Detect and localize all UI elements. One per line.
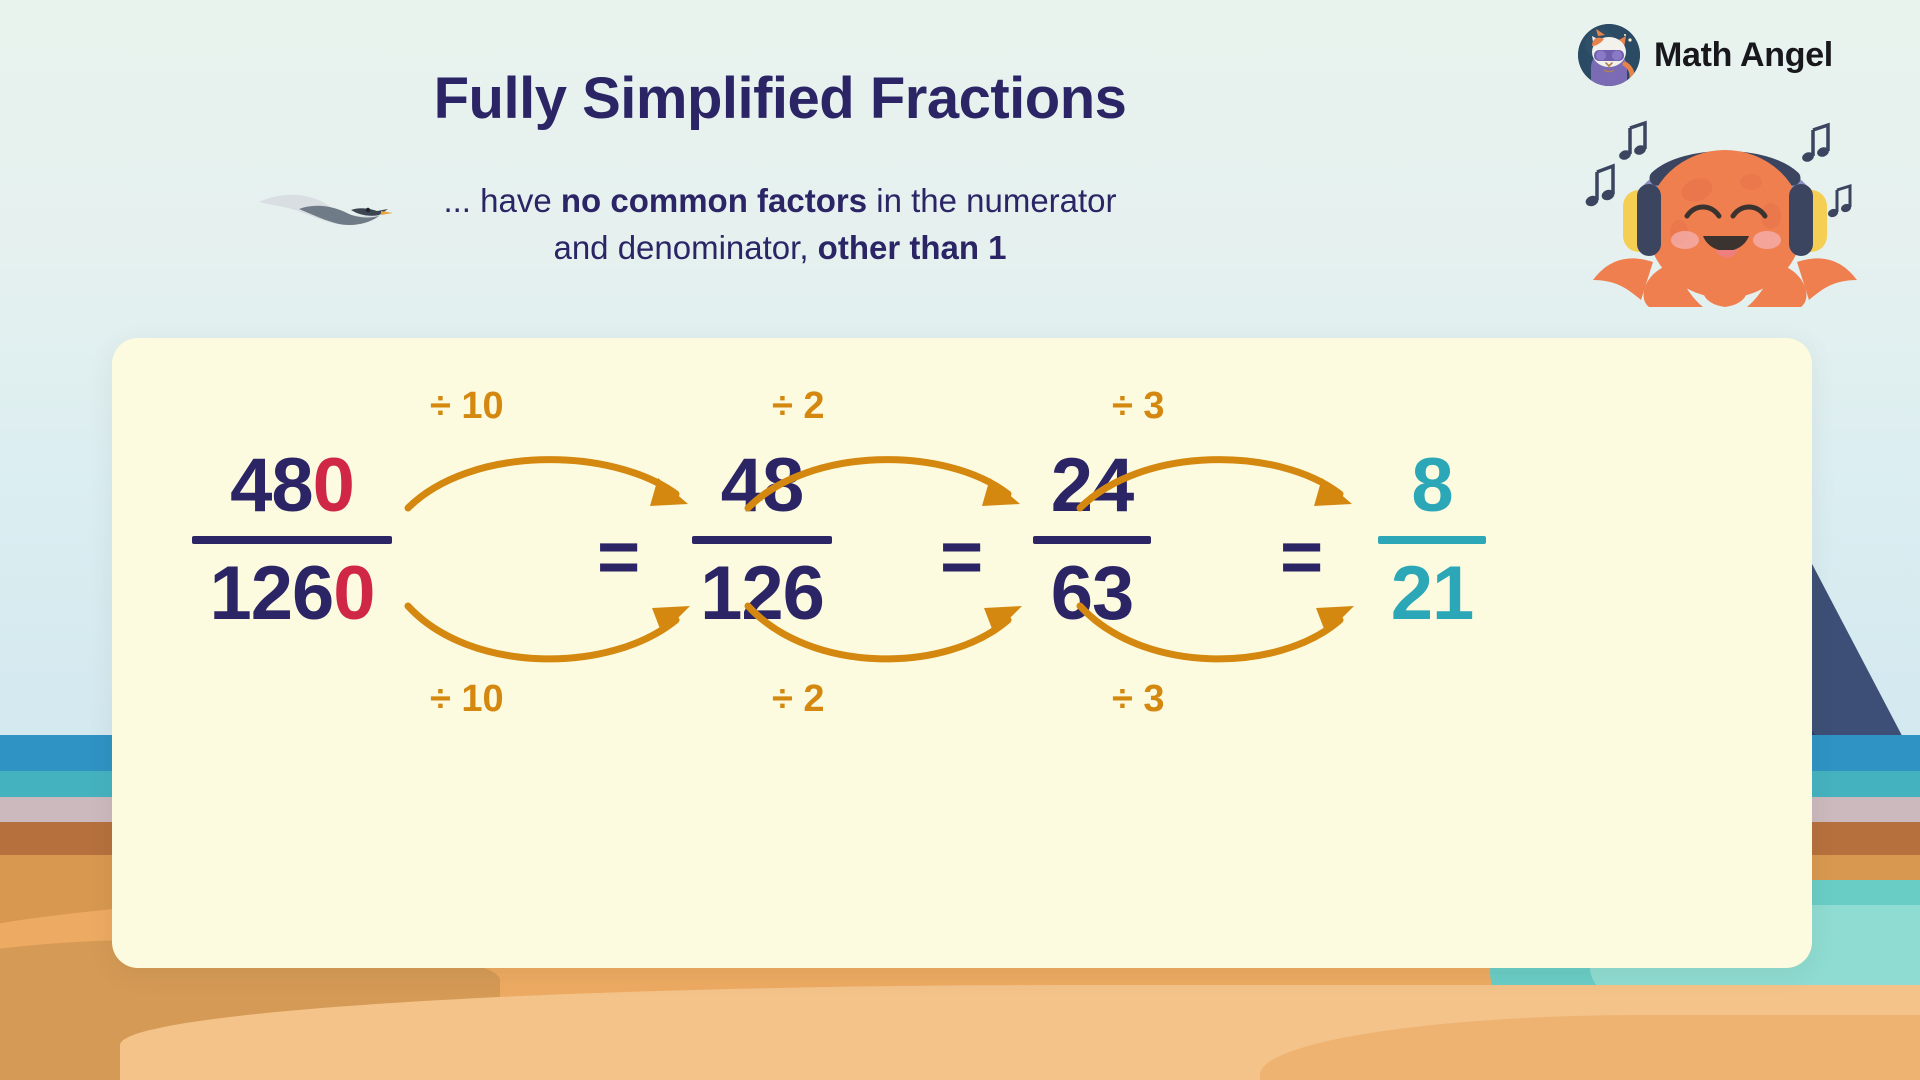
operation-1-bottom-arrow [400, 596, 700, 676]
subtitle-emphasis-2: other than 1 [818, 229, 1007, 266]
fraction-3-bar [1033, 536, 1151, 544]
equals-sign-1: = [597, 520, 640, 594]
operation-1-bottom-label: ÷ 10 [430, 678, 504, 721]
page-title: Fully Simplified Fractions [0, 65, 1560, 132]
operation-2-top-arrow [740, 436, 1030, 516]
operation-1-top-arrow [400, 436, 700, 516]
operation-3-bottom-label: ÷ 3 [1112, 678, 1165, 721]
equals-sign-2: = [940, 520, 983, 594]
fraction-step-1: 480 1260 [162, 448, 422, 632]
operation-3-bottom-arrow [1072, 596, 1362, 676]
equals-sign-3: = [1280, 520, 1323, 594]
subtitle-emphasis-1: no common factors [561, 182, 867, 219]
logo[interactable]: Math Angel [1578, 24, 1833, 86]
operation-2-bottom-label: ÷ 2 [772, 678, 825, 721]
equation-area: 480 1260 ÷ 10 ÷ 10 = 48 126 ÷ 2 [112, 338, 1812, 968]
fraction-4-bar [1378, 536, 1486, 544]
page-subtitle: ... have no common factors in the numera… [0, 178, 1560, 272]
fraction-4-numerator: 8 [1352, 448, 1512, 524]
fraction-step-4-result: 8 21 [1352, 448, 1512, 632]
subtitle-line-2: and denominator, other than 1 [553, 229, 1006, 266]
fraction-card: 480 1260 ÷ 10 ÷ 10 = 48 126 ÷ 2 [112, 338, 1812, 968]
fraction-1-bar [192, 536, 392, 544]
fraction-2-bar [692, 536, 832, 544]
octopus-mascot-icon [1575, 112, 1875, 307]
fraction-1-numerator: 480 [162, 448, 422, 524]
operation-3-top-label: ÷ 3 [1112, 385, 1165, 428]
operation-2-top-label: ÷ 2 [772, 385, 825, 428]
fraction-1-denominator: 1260 [162, 556, 422, 632]
logo-text: Math Angel [1654, 36, 1833, 75]
subtitle-line-1: ... have no common factors in the numera… [443, 182, 1116, 219]
logo-mascot-icon [1578, 24, 1640, 86]
operation-1-top-label: ÷ 10 [430, 385, 504, 428]
fraction-4-denominator: 21 [1352, 556, 1512, 632]
operation-2-bottom-arrow [740, 596, 1030, 676]
operation-3-top-arrow [1072, 436, 1362, 516]
